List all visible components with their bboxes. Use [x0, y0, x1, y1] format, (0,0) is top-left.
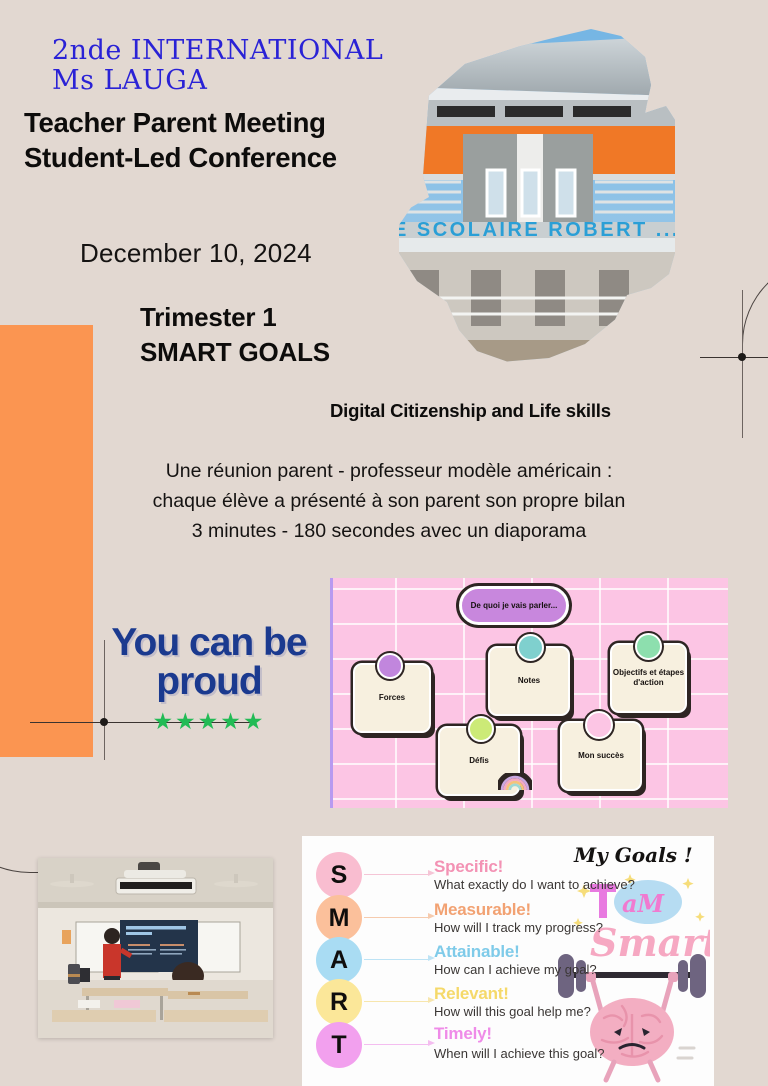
left-curve-decoration	[0, 722, 107, 873]
succes-dot-icon	[585, 711, 613, 739]
page-title: Teacher Parent Meeting Student-Led Confe…	[24, 105, 454, 175]
rainbow-icon	[498, 773, 532, 791]
smart-letter-circle: S	[316, 852, 362, 898]
teacher-name: Ms LAUGA	[52, 66, 472, 96]
page-title-line-1: Teacher Parent Meeting	[24, 105, 454, 140]
smart-letter-circle: T	[316, 1022, 362, 1068]
star-rating: ★★★★★	[84, 708, 334, 735]
page-title-line-2: Student-Led Conference	[24, 140, 454, 175]
smart-letter: R	[330, 988, 348, 1017]
proud-line-2: proud	[84, 662, 334, 701]
defis-dot-icon	[468, 716, 494, 742]
smart-row-relevant: R Relevant! How will this goal help me?	[316, 979, 706, 1025]
smart-row-specific: S Specific! What exactly do I want to ac…	[316, 852, 706, 898]
outline-box-label: Défis	[469, 756, 489, 766]
smart-goals-label: SMART GOALS	[140, 335, 470, 370]
right-crosshair-vertical	[742, 290, 743, 438]
smart-connector-line	[364, 1001, 430, 1002]
outline-box-label: Mon succès	[578, 751, 624, 761]
building-sign-text: E SCOLAIRE ROBERT ...	[393, 219, 675, 241]
smart-row-attainable: A Attainable! How can I achieve my goal?	[316, 937, 706, 983]
smart-connector-line	[364, 874, 430, 875]
classroom-photo	[38, 858, 273, 1038]
class-name: 2nde INTERNATIONAL	[52, 35, 383, 66]
smart-row-timely: T Timely! When will I achieve this goal?	[316, 1022, 706, 1068]
smart-question: How will this goal help me?	[434, 1004, 591, 1019]
smart-title: Specific!	[434, 857, 503, 877]
smart-title: Attainable!	[434, 942, 520, 962]
smart-question: When will I achieve this goal?	[434, 1046, 605, 1061]
subject-subheading: Digital Citizenship and Life skills	[330, 400, 730, 422]
description-paragraph: Une réunion parent - professeur modèle a…	[104, 456, 674, 547]
classroom-illustration	[38, 858, 273, 1038]
smart-question: How will I track my progress?	[434, 920, 603, 935]
grid-line	[333, 763, 728, 765]
proud-line-1: You can be	[84, 623, 334, 662]
smart-title: Measurable!	[434, 900, 531, 920]
smart-letter: T	[331, 1031, 346, 1060]
outline-box-label: Forces	[379, 693, 405, 703]
smart-letter: M	[329, 904, 350, 933]
right-crosshair-horizontal	[700, 357, 768, 358]
smart-connector-line	[364, 917, 430, 918]
orange-accent-block	[0, 325, 93, 757]
smart-question: How can I achieve my goal?	[434, 962, 597, 977]
grid-line	[333, 798, 728, 800]
proud-message: You can be proud	[84, 623, 334, 701]
trimester-label: Trimester 1	[140, 300, 470, 335]
smart-title: Relevant!	[434, 984, 509, 1004]
objectifs-dot-icon	[635, 633, 662, 660]
smart-connector-line	[364, 1044, 430, 1045]
smart-connector-line	[364, 959, 430, 960]
class-identifier: 2nde INTERNATIONAL Ms LAUGA	[52, 36, 472, 96]
smart-title: Timely!	[434, 1024, 492, 1044]
description-line-3: 3 minutes - 180 secondes avec un diapora…	[104, 516, 674, 546]
smart-goals-slide: My Goals ! aM Smart	[302, 836, 714, 1086]
smart-letter: S	[331, 861, 348, 890]
smart-letter-circle: A	[316, 937, 362, 983]
slide-title-bubble: De quoi je vais parler...	[459, 586, 569, 625]
poster-canvas: E SCOLAIRE ROBERT ... 2nde INTERNATIONAL…	[0, 0, 768, 1086]
smart-letter-circle: M	[316, 895, 362, 941]
smart-row-measurable: M Measurable! How will I track my progre…	[316, 895, 706, 941]
smart-letter-circle: R	[316, 979, 362, 1025]
forces-dot-icon	[377, 653, 403, 679]
outline-box-label: Notes	[518, 676, 540, 686]
presentation-outline-slide: De quoi je vais parler... Forces Notes O…	[330, 578, 728, 808]
meeting-date: December 10, 2024	[80, 238, 312, 269]
slide-title-text: De quoi je vais parler...	[471, 601, 558, 611]
smart-question: What exactly do I want to achieve?	[434, 877, 635, 892]
description-line-1: Une réunion parent - professeur modèle a…	[104, 456, 674, 486]
right-curve-decoration	[742, 258, 768, 359]
trimester-heading: Trimester 1 SMART GOALS	[140, 300, 470, 370]
outline-box-label: Objectifs et étapes d'action	[612, 668, 685, 688]
notes-dot-icon	[517, 634, 544, 661]
smart-letter: A	[330, 946, 348, 975]
right-crosshair-dot	[738, 353, 746, 361]
description-line-2: chaque élève a présenté à son parent son…	[104, 486, 674, 516]
